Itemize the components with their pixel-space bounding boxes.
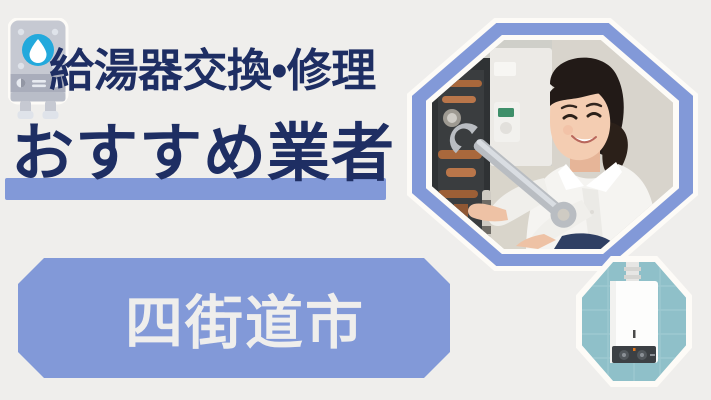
technician-photo-frame (407, 18, 698, 271)
banner-root: 給湯器交換•修理 おすすめ業者 四街道市 (0, 0, 711, 400)
city-chip: 四街道市 (18, 258, 450, 378)
water-heater-unit-photo-frame (576, 256, 692, 387)
city-name-label: 四街道市 (103, 276, 365, 360)
headline-secondary-group: おすすめ業者 (5, 115, 425, 205)
water-heater-unit-photo (582, 262, 686, 381)
headline-secondary: おすすめ業者 (11, 115, 395, 193)
headline-primary: 給湯器交換•修理 (49, 44, 376, 98)
